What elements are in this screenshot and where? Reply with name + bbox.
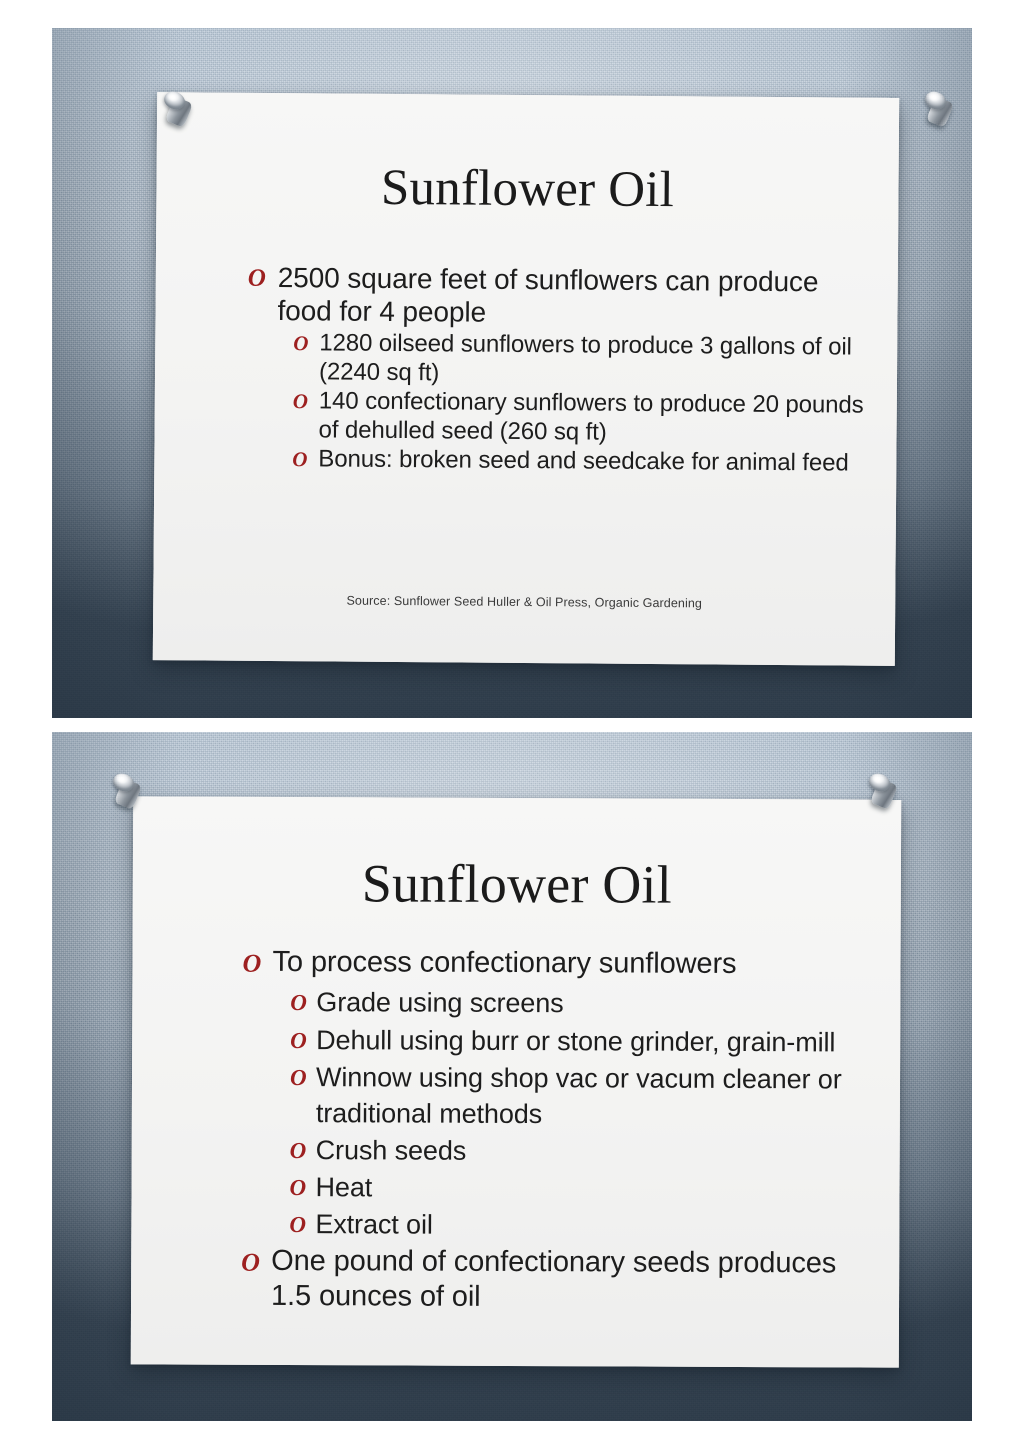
bullet-text: 140 confectionary sunflowers to produce … [318,388,876,449]
bullet-level2: O 1280 oilseed sunflowers to produce 3 g… [293,329,877,391]
bullet-o-icon: O [290,1059,316,1089]
slide-2: Sunflower Oil O To process confectionary… [52,732,972,1421]
slide-2-body: O To process confectionary sunflowers O … [241,945,883,1321]
bullet-text: Grade using screens [316,985,882,1024]
bullet-level1: O 2500 square feet of sunflowers can pro… [247,261,877,332]
sub-bullet-group: O 1280 oilseed sunflowers to produce 3 g… [292,329,877,478]
handout-page: Sunflower Oil O 2500 square feet of sunf… [0,0,1024,1449]
bullet-level2: O Dehull using burr or stone grinder, gr… [290,1022,882,1061]
bullet-level2: O Bonus: broken seed and seedcake for an… [292,445,876,478]
slide-1-title: Sunflower Oil [156,160,898,219]
bullet-o-icon: O [290,1132,316,1162]
bullet-level2: O Winnow using shop vac or vacum cleaner… [290,1059,882,1134]
bullet-text: Crush seeds [316,1132,882,1171]
bullet-o-icon: O [290,1022,316,1052]
slide-2-paper-card: Sunflower Oil O To process confectionary… [131,796,901,1367]
bullet-o-icon: O [292,445,318,470]
bullet-text: Winnow using shop vac or vacum cleaner o… [316,1059,882,1134]
bullet-text: To process confectionary sunflowers [272,945,882,983]
bullet-o-icon: O [242,945,272,977]
bullet-text: One pound of confectionary seeds produce… [271,1244,881,1317]
bullet-level1: O To process confectionary sunflowers [242,945,882,983]
bullet-o-icon: O [293,387,319,412]
bullet-level2: O Extract oil [289,1206,881,1245]
bullet-text: Bonus: broken seed and seedcake for anim… [318,446,876,479]
bullet-o-icon: O [289,1169,315,1199]
bullet-o-icon: O [293,329,319,354]
bullet-o-icon: O [289,1206,315,1236]
sub-bullet-group: O Grade using screens O Dehull using bur… [289,984,882,1245]
bullet-text: Heat [315,1169,881,1208]
bullet-text: Dehull using burr or stone grinder, grai… [316,1022,882,1061]
slide-1-body: O 2500 square feet of sunflowers can pro… [246,261,878,480]
bullet-o-icon: O [241,1243,271,1275]
bullet-o-icon: O [248,261,278,291]
bullet-text: 1280 oilseed sunflowers to produce 3 gal… [319,329,877,390]
bullet-level2: O Heat [289,1169,881,1208]
slide-2-title: Sunflower Oil [133,854,901,914]
bullet-level1: O One pound of confectionary seeds produ… [241,1243,881,1317]
bullet-level2: O 140 confectionary sunflowers to produc… [292,387,876,449]
bullet-o-icon: O [290,984,316,1014]
bullet-text: Extract oil [315,1207,881,1246]
bullet-level2: O Crush seeds [290,1132,882,1171]
slide-1-paper-card: Sunflower Oil O 2500 square feet of sunf… [153,92,899,666]
slide-1-source-credit: Source: Sunflower Seed Huller & Oil Pres… [153,592,895,612]
bullet-level2: O Grade using screens [290,984,882,1023]
bullet-text: 2500 square feet of sunflowers can produ… [277,261,878,332]
slide-1: Sunflower Oil O 2500 square feet of sunf… [52,28,972,718]
